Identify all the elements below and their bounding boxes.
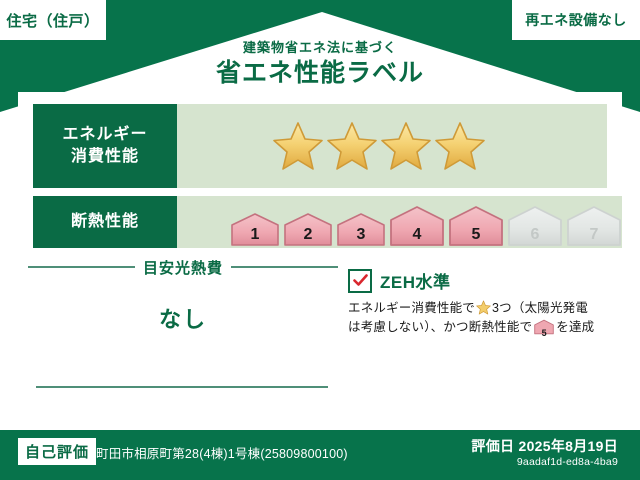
label-footer: 自己評価 町田市相原町第28(4棟)1号棟(25809800100) 評価日 2… <box>0 430 640 480</box>
insulation-level-4-label: 4 <box>389 226 445 244</box>
building-address: 町田市相原町第28(4棟)1号棟(25809800100) <box>96 443 348 462</box>
zeh-standard-block: ZEH水準 エネルギー消費性能で3つ（太陽光発電 は考慮しない）、かつ断熱性能で… <box>348 268 610 342</box>
lower-section: 目安光熱費 なし ZEH水準 エネルギー消費性能で3つ（太陽光発電 は考慮しない… <box>18 252 622 426</box>
insulation-level-7: 7 <box>566 204 622 248</box>
divider-left <box>28 266 135 268</box>
star-icon <box>326 120 378 172</box>
dwelling-type-tag: 住宅（住戸） <box>0 0 106 40</box>
estimated-utility-cost-header: 目安光熱費 <box>28 258 338 276</box>
energy-performance-label: 住宅（住戸） 再エネ設備なし 建築物省エネ法に基づく 省エネ性能ラベル エネルギ… <box>0 0 640 480</box>
star-icon <box>380 120 432 172</box>
label-title-block: 建築物省エネ法に基づく 省エネ性能ラベル <box>0 40 640 89</box>
label-card: エネルギー 消費性能 <box>18 92 622 426</box>
star-icon <box>434 120 486 172</box>
insulation-level-1-label: 1 <box>230 226 280 244</box>
zeh-desc-part1: エネルギー消費性能で <box>348 301 475 315</box>
zeh-standard-title: ZEH水準 <box>380 268 451 293</box>
energy-performance-label-box: エネルギー 消費性能 <box>33 104 177 188</box>
insulation-level-6: 6 <box>507 204 563 248</box>
energy-performance-row: エネルギー 消費性能 <box>33 104 607 188</box>
evaluation-id: 9aadaf1d-ed8a-4ba9 <box>517 456 618 468</box>
zeh-standard-header: ZEH水準 <box>348 268 610 293</box>
zeh-standard-description: エネルギー消費性能で3つ（太陽光発電 は考慮しない）、かつ断熱性能で5を達成 <box>348 299 610 342</box>
insulation-level-3-label: 3 <box>336 226 386 244</box>
label-title: 省エネ性能ラベル <box>0 58 640 89</box>
insulation-level-6-label: 6 <box>507 226 563 244</box>
checkbox-checked-icon <box>348 269 372 293</box>
insulation-level-3: 3 <box>336 211 386 248</box>
insulation-level-1: 1 <box>230 211 280 248</box>
insulation-performance-value: 1 2 3 <box>177 196 622 248</box>
divider-right <box>231 266 338 268</box>
divider-bottom <box>36 386 328 388</box>
energy-performance-value <box>177 104 607 188</box>
energy-performance-name-line1: エネルギー <box>62 124 147 146</box>
zeh-desc-part4: を達成 <box>556 320 594 334</box>
star-icon <box>476 300 491 315</box>
insulation-level-scale: 1 2 3 <box>177 196 622 248</box>
zeh-desc-part2: 3つ（太陽光発電 <box>492 301 588 315</box>
insulation-level-5-label: 5 <box>448 226 504 244</box>
insulation-performance-label-box: 断熱性能 <box>33 196 177 248</box>
self-evaluation-tag: 自己評価 <box>18 438 96 465</box>
check-icon <box>353 274 368 287</box>
renewable-equipment-tag: 再エネ設備なし <box>512 0 640 40</box>
label-subtitle: 建築物省エネ法に基づく <box>0 40 640 56</box>
insulation-performance-name-line1: 断熱性能 <box>71 211 139 233</box>
insulation-level-badge-label: 5 <box>534 327 554 341</box>
insulation-performance-row: 断熱性能 <box>33 196 607 248</box>
insulation-level-2: 2 <box>283 211 333 248</box>
evaluation-date: 評価日 2025年8月19日 <box>471 436 618 456</box>
estimated-utility-cost-value: なし <box>28 302 338 334</box>
energy-performance-name-line2: 消費性能 <box>71 146 139 168</box>
estimated-utility-cost-title: 目安光熱費 <box>143 257 223 278</box>
insulation-level-badge: 5 <box>534 319 554 341</box>
zeh-desc-part3: は考慮しない）、かつ断熱性能で <box>348 320 532 334</box>
star-icon <box>272 120 324 172</box>
insulation-level-7-label: 7 <box>566 226 622 244</box>
insulation-level-2-label: 2 <box>283 226 333 244</box>
star-rating <box>177 120 486 172</box>
insulation-level-4: 4 <box>389 204 445 248</box>
insulation-level-5: 5 <box>448 204 504 248</box>
